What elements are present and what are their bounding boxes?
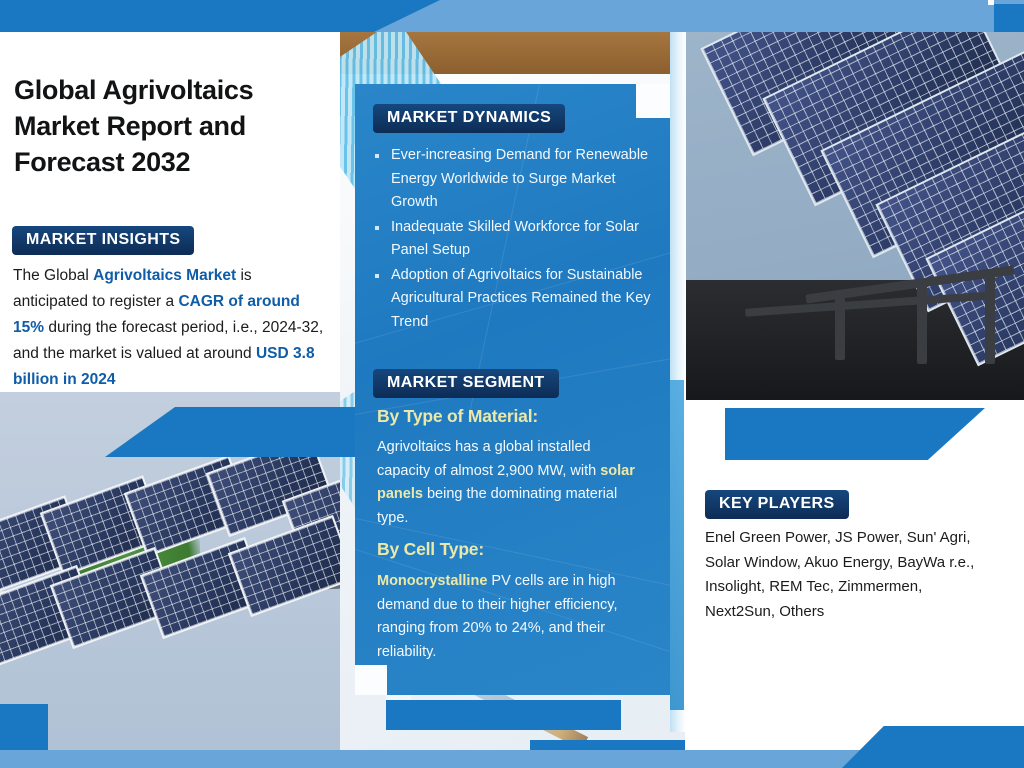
market-segment-badge: MARKET SEGMENT xyxy=(373,369,559,398)
left-column: Global Agrivoltaics Market Report and Fo… xyxy=(0,32,340,768)
right-photo-mount-post xyxy=(917,284,927,364)
insights-text-1: The Global xyxy=(13,267,93,284)
list-item: Ever-increasing Demand for Renewable Ene… xyxy=(373,144,653,215)
key-players-badge: KEY PLAYERS xyxy=(705,490,849,519)
insights-highlight-market: Agrivoltaics Market xyxy=(93,267,236,284)
center-bottom-bar-1 xyxy=(386,700,621,730)
right-photo-mount-post xyxy=(835,290,845,360)
market-dynamics-list: Ever-increasing Demand for Renewable Ene… xyxy=(373,144,653,335)
left-text-area: Global Agrivoltaics Market Report and Fo… xyxy=(0,32,340,392)
key-players-list: Enel Green Power, JS Power, Sun' Agri, S… xyxy=(705,526,987,624)
segment-material-text-1: Agrivoltaics has a global installed capa… xyxy=(377,439,600,479)
panel-notch-top-right xyxy=(636,84,670,118)
top-right-square xyxy=(994,4,1024,32)
segment-cell-highlight: Monocrystalline xyxy=(377,573,487,589)
right-photo xyxy=(685,32,1024,400)
market-insights-paragraph: The Global Agrivoltaics Market is antici… xyxy=(13,263,325,393)
infographic-root: Global Agrivoltaics Market Report and Fo… xyxy=(0,0,1024,768)
segment-body-material: Agrivoltaics has a global installed capa… xyxy=(377,436,645,530)
list-item: Inadequate Skilled Workforce for Solar P… xyxy=(373,216,653,263)
panel-notch-bottom-left xyxy=(355,665,387,695)
page-title: Global Agrivoltaics Market Report and Fo… xyxy=(14,72,314,180)
list-item: Adoption of Agrivoltaics for Sustainable… xyxy=(373,264,653,335)
right-photo-mount-post xyxy=(985,274,995,364)
segment-heading-cell-type: By Cell Type: xyxy=(377,539,657,560)
segment-heading-material: By Type of Material: xyxy=(377,406,657,427)
market-dynamics-badge: MARKET DYNAMICS xyxy=(373,104,565,133)
right-accent-parallelogram xyxy=(725,408,985,460)
segment-body-cell-type: Monocrystalline PV cells are in high dem… xyxy=(377,570,645,664)
right-column: KEY PLAYERS Enel Green Power, JS Power, … xyxy=(685,32,1024,768)
market-insights-badge: MARKET INSIGHTS xyxy=(12,226,194,255)
center-content-panel: MARKET DYNAMICS Ever-increasing Demand f… xyxy=(355,84,670,695)
center-right-edge-accent xyxy=(670,380,684,710)
bottom-left-square xyxy=(0,704,48,750)
